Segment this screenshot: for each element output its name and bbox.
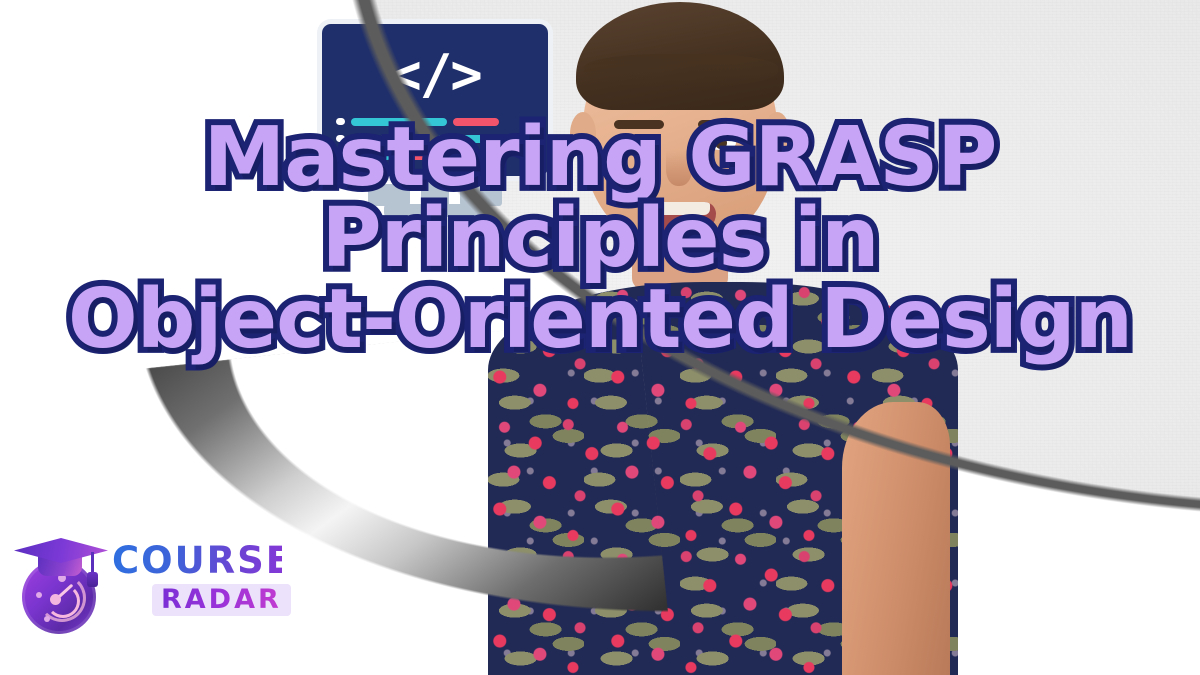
cap-tassel bbox=[91, 552, 94, 574]
graduation-cap-radar-icon bbox=[14, 528, 108, 632]
title-line: Object-Oriented Design bbox=[0, 280, 1200, 361]
right-arm bbox=[842, 402, 950, 675]
title-line: Mastering GRASP bbox=[0, 118, 1200, 199]
hair bbox=[576, 2, 784, 110]
course-thumbnail: </> Mastering GRASPPrinciples inObject-O… bbox=[0, 0, 1200, 675]
page-title: Mastering GRASPPrinciples inObject-Orien… bbox=[0, 118, 1200, 360]
title-line: Principles in bbox=[0, 199, 1200, 280]
brand-primary-text: COURSES bbox=[112, 542, 282, 579]
cap-tassel-knot bbox=[87, 572, 98, 587]
brand-secondary-pill: RADAR bbox=[152, 584, 291, 616]
brand-logo[interactable]: COURSES RADAR bbox=[10, 520, 278, 640]
brand-wordmark: COURSES RADAR bbox=[112, 542, 282, 616]
brand-secondary-text: RADAR bbox=[161, 584, 282, 615]
